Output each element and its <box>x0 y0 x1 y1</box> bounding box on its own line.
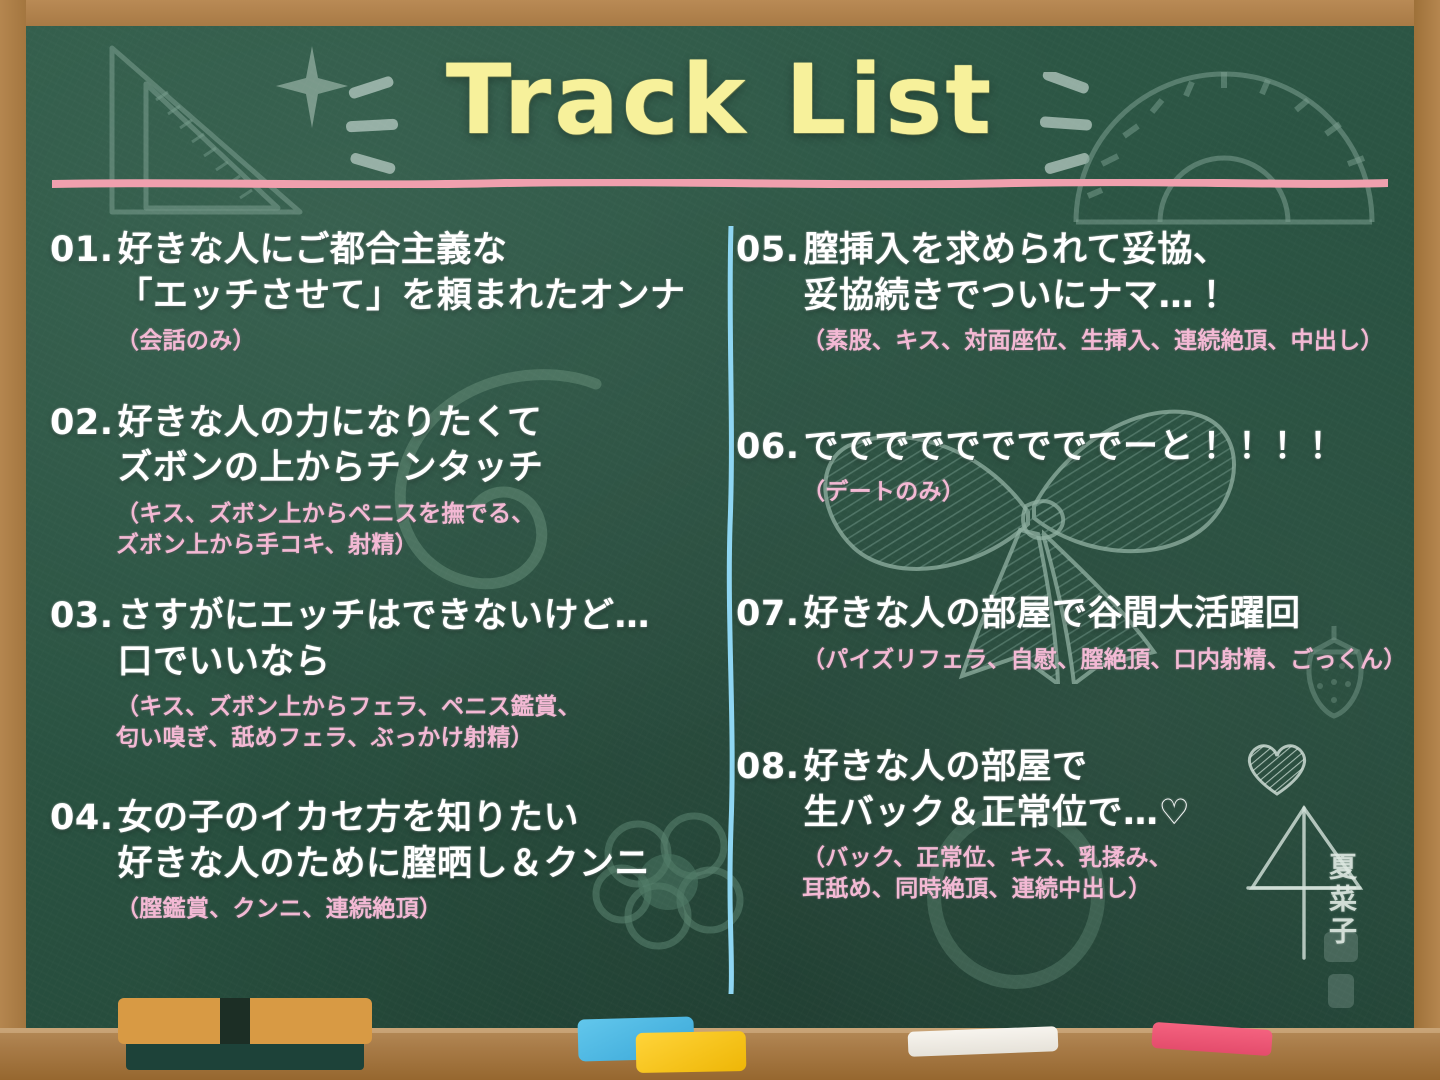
track-subtitle-line: （会話のみ） <box>116 328 256 354</box>
track-list-slide: Track List 01. 好きな人にご都合主義な <box>0 0 1440 1080</box>
frame-right-edge <box>1414 0 1440 1080</box>
track-columns: 01. 好きな人にご都合主義な 「エッチさせて」を頼まれたオンナ （会話のみ） … <box>26 210 1414 1028</box>
track-subtitle-line: （素股、キス、対面座位、生挿入、連続絶頂、中出し） <box>802 328 1384 354</box>
track-column-right: 05. 膣挿入を求められて妥協、 妥協続きでついにナマ…！ （素股、キス、対面座… <box>716 210 1410 1028</box>
track-subtitle-line: （キス、ズボン上からフェラ、ペニス鑑賞、 <box>116 694 581 720</box>
track-title: でででででででででーと！！！！ <box>804 425 1400 471</box>
track-title-line: 生バック＆正常位で…♡ <box>804 793 1191 833</box>
track-number: 08. <box>736 745 800 791</box>
track-title: 膣挿入を求められて妥協、 妥協続きでついにナマ…！ <box>804 228 1400 319</box>
track-subtitle-line: （膣鑑賞、クンニ、連続絶頂） <box>116 896 442 922</box>
track-heading: 06. でででででででででーと！！！！ <box>736 425 1400 471</box>
track-column-left: 01. 好きな人にご都合主義な 「エッチさせて」を頼まれたオンナ （会話のみ） … <box>26 210 716 1028</box>
track-subtitle: （キス、ズボン上からフェラ、ペニス鑑賞、 匂い嗅ぎ、舐めフェラ、ぶっかけ射精） <box>50 692 706 754</box>
track-subtitle: （膣鑑賞、クンニ、連続絶頂） <box>50 894 706 925</box>
track-title-line: でででででででででーと！！！！ <box>804 427 1337 467</box>
title-underline <box>52 179 1388 188</box>
track-heading: 08. 好きな人の部屋で 生バック＆正常位で…♡ <box>736 745 1400 836</box>
track-heading: 01. 好きな人にご都合主義な 「エッチさせて」を頼まれたオンナ <box>50 228 706 319</box>
track-number: 03. <box>50 594 114 640</box>
track-subtitle-line: （デートのみ） <box>802 479 965 505</box>
track-title-line: さすがにエッチはできないけど… <box>118 596 651 636</box>
track-title: 好きな人の部屋で谷間大活躍回 <box>804 592 1400 638</box>
track-title-line: 好きな人の部屋で <box>804 747 1088 787</box>
track-title: さすがにエッチはできないけど… 口でいいなら <box>118 594 706 685</box>
track-item[interactable]: 07. 好きな人の部屋で谷間大活躍回 （パイズリフェラ、自慰、膣絶頂、口内射精、… <box>736 592 1400 675</box>
track-number: 05. <box>736 228 800 274</box>
track-title-line: 「エッチさせて」を頼まれたオンナ <box>118 276 686 316</box>
track-title-line: 好きな人の力になりたくて <box>118 403 543 443</box>
eraser-base <box>126 1040 364 1070</box>
track-subtitle: （デートのみ） <box>736 477 1400 508</box>
track-subtitle: （素股、キス、対面座位、生挿入、連続絶頂、中出し） <box>736 326 1400 357</box>
track-item[interactable]: 01. 好きな人にご都合主義な 「エッチさせて」を頼まれたオンナ （会話のみ） <box>50 228 706 357</box>
track-item[interactable]: 06. でででででででででーと！！！！ （デートのみ） <box>736 425 1400 508</box>
track-title-line: 好きな人にご都合主義な <box>118 230 508 270</box>
chalkboard-eraser[interactable] <box>118 998 372 1044</box>
track-title: 女の子のイカセ方を知りたい 好きな人のために膣晒し＆クンニ <box>118 796 706 887</box>
track-item[interactable]: 05. 膣挿入を求められて妥協、 妥協続きでついにナマ…！ （素股、キス、対面座… <box>736 228 1400 357</box>
track-heading: 07. 好きな人の部屋で谷間大活躍回 <box>736 592 1400 638</box>
track-subtitle-line: 耳舐め、同時絶頂、連続中出し） <box>802 876 1152 902</box>
eraser-band <box>220 998 250 1044</box>
track-heading: 05. 膣挿入を求められて妥協、 妥協続きでついにナマ…！ <box>736 228 1400 319</box>
track-heading: 03. さすがにエッチはできないけど… 口でいいなら <box>50 594 706 685</box>
track-subtitle-line: （バック、正常位、キス、乳揉み、 <box>802 845 1172 871</box>
track-title-line: ズボンの上からチンタッチ <box>118 448 544 488</box>
track-subtitle: （バック、正常位、キス、乳揉み、 耳舐め、同時絶頂、連続中出し） <box>736 843 1400 905</box>
track-subtitle-line: ズボン上から手コキ、射精） <box>116 532 418 558</box>
track-subtitle: （パイズリフェラ、自慰、膣絶頂、口内射精、ごっくん） <box>736 645 1400 676</box>
track-number: 02. <box>50 401 114 447</box>
track-title: 好きな人の力になりたくて ズボンの上からチンタッチ <box>118 401 706 492</box>
track-number: 01. <box>50 228 114 274</box>
track-title-line: 口でいいなら <box>118 642 331 682</box>
chalkboard: Track List 01. 好きな人にご都合主義な <box>26 26 1414 1028</box>
track-number: 06. <box>736 425 800 471</box>
track-subtitle: （キス、ズボン上からペニスを撫でる、 ズボン上から手コキ、射精） <box>50 499 706 561</box>
yellow-sticky-note[interactable] <box>636 1031 747 1073</box>
track-title: 好きな人にご都合主義な 「エッチさせて」を頼まれたオンナ <box>118 228 706 319</box>
frame-left-edge <box>0 0 26 1080</box>
page-title: Track List <box>446 44 994 156</box>
frame-top-edge <box>0 0 1440 26</box>
track-title-line: 女の子のイカセ方を知りたい <box>118 798 580 838</box>
track-title-line: 好きな人の部屋で谷間大活躍回 <box>804 594 1301 634</box>
track-item[interactable]: 02. 好きな人の力になりたくて ズボンの上からチンタッチ （キス、ズボン上から… <box>50 401 706 561</box>
track-heading: 02. 好きな人の力になりたくて ズボンの上からチンタッチ <box>50 401 706 492</box>
track-title-line: 妥協続きでついにナマ…！ <box>804 276 1230 316</box>
track-item[interactable]: 08. 好きな人の部屋で 生バック＆正常位で…♡ （バック、正常位、キス、乳揉み… <box>736 745 1400 905</box>
track-item[interactable]: 04. 女の子のイカセ方を知りたい 好きな人のために膣晒し＆クンニ （膣鑑賞、ク… <box>50 796 706 925</box>
title-block: Track List <box>26 44 1414 156</box>
track-subtitle: （会話のみ） <box>50 326 706 357</box>
track-subtitle-line: （キス、ズボン上からペニスを撫でる、 <box>116 501 535 527</box>
track-subtitle-line: 匂い嗅ぎ、舐めフェラ、ぶっかけ射精） <box>116 725 534 751</box>
track-subtitle-line: （パイズリフェラ、自慰、膣絶頂、口内射精、ごっくん） <box>802 647 1407 673</box>
track-number: 04. <box>50 796 114 842</box>
track-heading: 04. 女の子のイカセ方を知りたい 好きな人のために膣晒し＆クンニ <box>50 796 706 887</box>
track-title-line: 好きな人のために膣晒し＆クンニ <box>118 844 651 884</box>
track-number: 07. <box>736 592 800 638</box>
track-item[interactable]: 03. さすがにエッチはできないけど… 口でいいなら （キス、ズボン上からフェラ… <box>50 594 706 754</box>
track-title-line: 膣挿入を求められて妥協、 <box>804 230 1229 270</box>
track-title: 好きな人の部屋で 生バック＆正常位で…♡ <box>804 745 1400 836</box>
